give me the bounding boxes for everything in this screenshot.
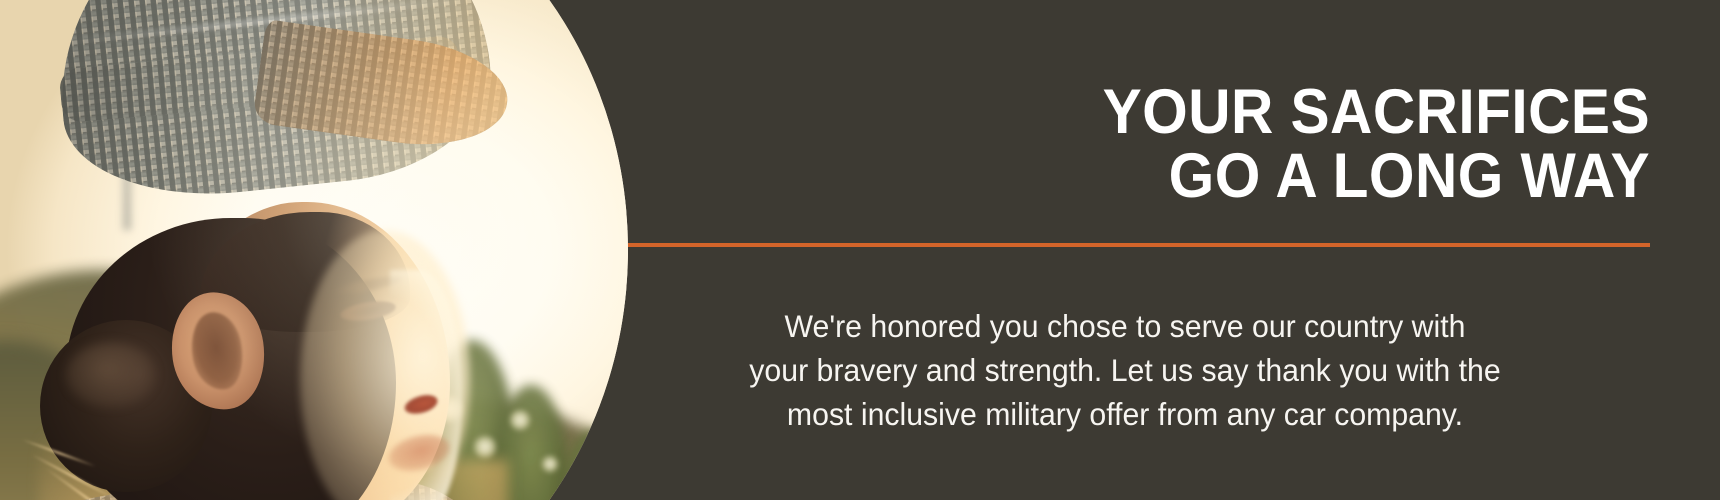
- body-line-3: most inclusive military offer from any c…: [698, 392, 1552, 436]
- body-line-2: your bravery and strength. Let us say th…: [698, 348, 1552, 392]
- headline-line-1: YOUR SACRIFICES: [700, 80, 1650, 144]
- military-offer-banner: YOUR SACRIFICES GO A LONG WAY We're hono…: [0, 0, 1720, 500]
- soldier-figure: [0, 0, 628, 500]
- body-line-1: We're honored you chose to serve our cou…: [698, 304, 1552, 348]
- headline-line-2: GO A LONG WAY: [700, 144, 1650, 208]
- hair-bun-highlight: [66, 342, 156, 408]
- accent-divider: [628, 243, 1650, 247]
- soldier-photo: [0, 0, 628, 500]
- banner-headline: YOUR SACRIFICES GO A LONG WAY: [700, 80, 1650, 209]
- soldier-photo-circle-mask: [0, 0, 628, 500]
- banner-body-copy: We're honored you chose to serve our cou…: [698, 304, 1552, 436]
- banner-content: YOUR SACRIFICES GO A LONG WAY We're hono…: [628, 0, 1720, 500]
